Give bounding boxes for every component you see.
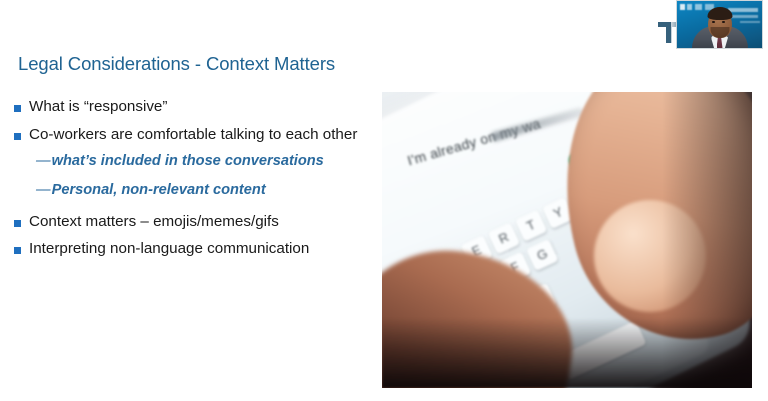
- sub-list-item: — Personal, non-relevant content: [14, 182, 394, 200]
- presenter-video-tile[interactable]: [676, 0, 763, 49]
- presenter-eye-right: [722, 21, 725, 23]
- background-watermark-icon: [680, 4, 714, 10]
- square-bullet-icon: [14, 133, 21, 140]
- list-item: Context matters – emojis/memes/gifs: [14, 213, 394, 232]
- slide-title: Legal Considerations - Context Matters: [18, 53, 335, 75]
- slide-bullet-list: What is “responsive” Co-workers are comf…: [14, 98, 394, 268]
- sub-bullet-text: what’s included in those conversations: [52, 153, 324, 171]
- square-bullet-icon: [14, 247, 21, 254]
- square-bullet-icon: [14, 220, 21, 227]
- photo-vignette-right: [662, 92, 752, 388]
- presenter-eye-left: [712, 21, 715, 23]
- bullet-text: Context matters – emojis/memes/gifs: [29, 213, 279, 232]
- presenter-hair: [707, 7, 732, 20]
- square-bullet-icon: [14, 105, 21, 112]
- list-item: Co-workers are comfortable talking to ea…: [14, 126, 394, 145]
- list-item: What is “responsive”: [14, 98, 394, 117]
- background-streak: [728, 8, 758, 12]
- sub-bullet-text: Personal, non-relevant content: [52, 182, 266, 200]
- background-streak: [740, 21, 760, 23]
- em-dash-bullet-icon: —: [36, 182, 51, 200]
- presentation-slide: Legal Considerations - Context Matters W…: [0, 0, 768, 401]
- bullet-text: What is “responsive”: [29, 98, 167, 117]
- list-item: Interpreting non-language communication: [14, 240, 394, 259]
- em-dash-bullet-icon: —: [36, 153, 51, 171]
- sub-list-item: — what’s included in those conversations: [14, 153, 394, 171]
- bullet-text: Co-workers are comfortable talking to ea…: [29, 126, 357, 145]
- slide-photo-smartphone-typing: I'm already on my wa E R T Y S D F G Z X…: [382, 92, 752, 388]
- bullet-text: Interpreting non-language communication: [29, 240, 309, 259]
